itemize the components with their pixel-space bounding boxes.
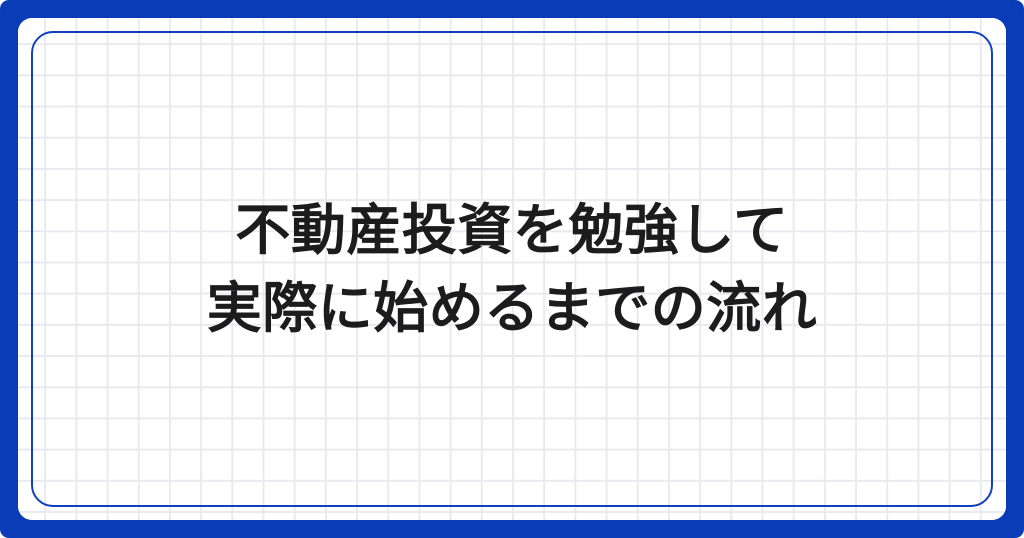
white-paper-plate: 不動産投資を勉強して 実際に始めるまでの流れ bbox=[18, 18, 1006, 520]
thumbnail-canvas: 不動産投資を勉強して 実際に始めるまでの流れ bbox=[0, 0, 1024, 538]
headline-line-2: 実際に始めるまでの流れ bbox=[207, 269, 818, 347]
headline-block: 不動産投資を勉強して 実際に始めるまでの流れ bbox=[18, 18, 1006, 520]
headline-line-1: 不動産投資を勉強して bbox=[235, 191, 788, 269]
